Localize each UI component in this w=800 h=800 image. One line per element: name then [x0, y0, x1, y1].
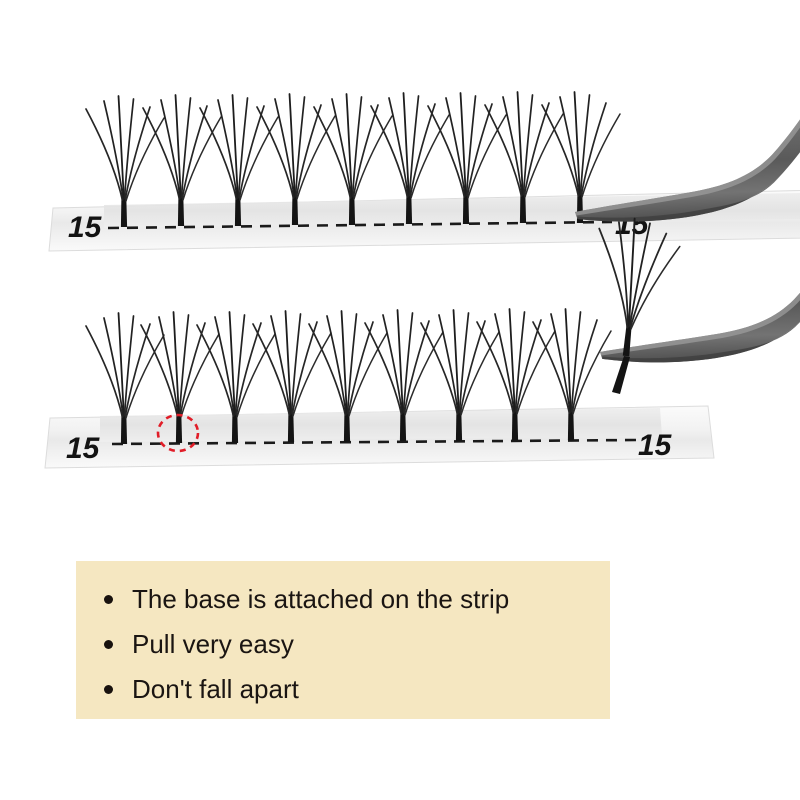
feature-text: Don't fall apart [132, 674, 299, 704]
bullet-icon [104, 640, 113, 649]
list-item: Don't fall apart [98, 667, 610, 712]
bullet-icon [104, 685, 113, 694]
bullet-icon [104, 595, 113, 604]
list-item: Pull very easy [98, 622, 610, 667]
upper-lash-strip: 15 15 [49, 23, 800, 251]
features-callout-box: The base is attached on the strip Pull v… [76, 561, 610, 719]
feature-text: Pull very easy [132, 629, 294, 659]
upper-strip-left-label: 15 [68, 211, 103, 244]
list-item: The base is attached on the strip [98, 577, 610, 622]
feature-text: The base is attached on the strip [132, 584, 509, 614]
lower-strip-right-label: 15 [638, 429, 673, 462]
features-list: The base is attached on the strip Pull v… [98, 577, 610, 712]
product-image-canvas: 15 15 1 [0, 0, 800, 800]
held-fan-root-extension [612, 356, 630, 394]
lower-strip-adhesive-band [100, 408, 662, 442]
lower-strip-left-label: 15 [66, 432, 101, 465]
